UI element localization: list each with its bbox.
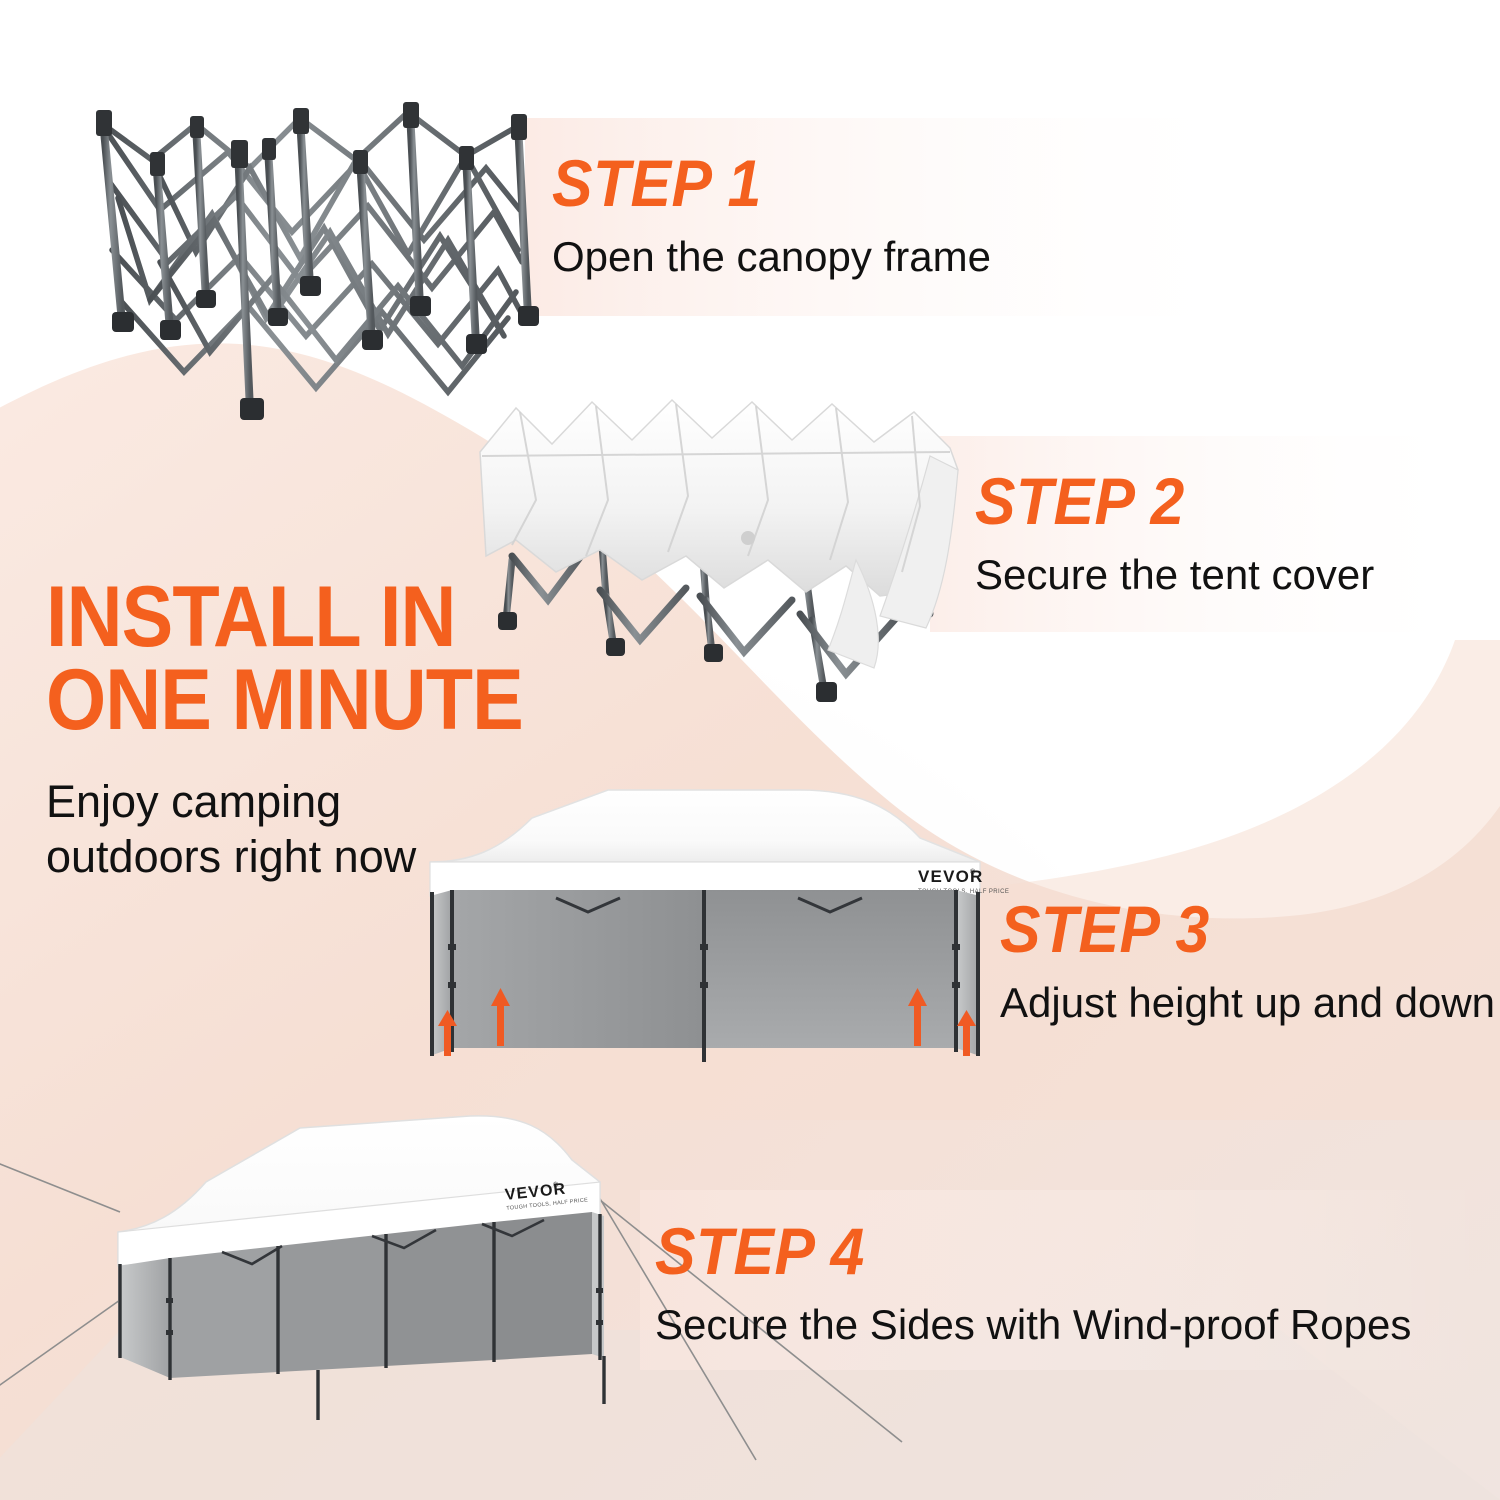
guy-rope (0, 1300, 120, 1392)
headline-line-2: ONE MINUTE (46, 659, 523, 742)
guy-rope (0, 1160, 120, 1212)
step-1-title: STEP 1 (552, 150, 956, 216)
step-4-block: STEP 4 Secure the Sides with Wind-proof … (655, 1218, 1411, 1348)
step-3-title: STEP 3 (1000, 896, 1455, 962)
infographic-canvas: VEVOR ® TOUGH TOOLS, HALF PRICE (0, 0, 1500, 1500)
headline-line-1: INSTALL IN (46, 576, 523, 659)
step-4-description: Secure the Sides with Wind-proof Ropes (655, 1302, 1411, 1348)
step-2-description: Secure the tent cover (975, 552, 1374, 598)
sidewall-right-return-angled (592, 1212, 604, 1358)
headline-sub-line-1: Enjoy camping (46, 775, 576, 830)
step-1-description: Open the canopy frame (552, 234, 991, 280)
step-4-title: STEP 4 (655, 1218, 1351, 1284)
sidewall-panel-3 (386, 1222, 494, 1366)
step-3-block: STEP 3 Adjust height up and down (1000, 896, 1495, 1026)
step-2-title: STEP 2 (975, 468, 1342, 534)
sidewall-left-return-angled (118, 1258, 170, 1378)
step-2-block: STEP 2 Secure the tent cover (975, 468, 1374, 598)
step-3-description: Adjust height up and down (1000, 980, 1495, 1026)
sidewall-panel-2 (278, 1234, 386, 1372)
step-1-block: STEP 1 Open the canopy frame (552, 150, 991, 280)
headline-sub-line-2: outdoors right now (46, 830, 576, 885)
headline-sub: Enjoy camping outdoors right now (46, 775, 576, 885)
headline-block: INSTALL IN ONE MINUTE Enjoy camping outd… (46, 576, 576, 885)
sidewall-panel-1 (170, 1246, 278, 1378)
